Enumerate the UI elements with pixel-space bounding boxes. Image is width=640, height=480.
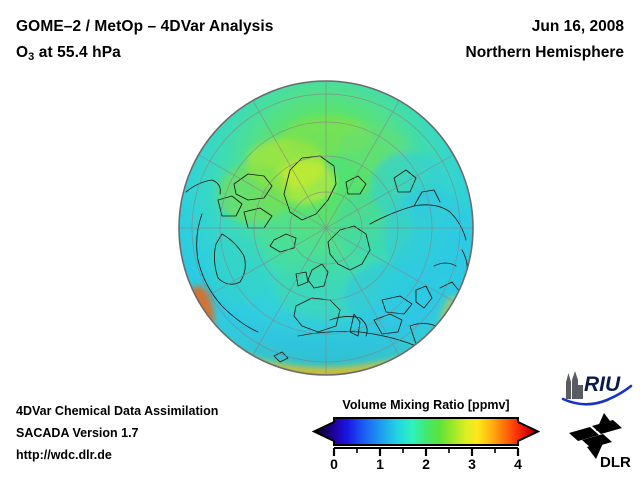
colorbar-tick-label: 1 — [376, 456, 384, 469]
title-line-1: GOME–2 / MetOp – 4DVar Analysis — [16, 14, 274, 40]
ozone-analysis-figure: GOME–2 / MetOp – 4DVar Analysis O3 at 55… — [0, 0, 640, 480]
title-line-2: O3 at 55.4 hPa — [16, 40, 274, 67]
riu-cathedral-icon — [566, 371, 583, 399]
colorbar-swatch — [314, 418, 538, 445]
colorbar-tick-label: 3 — [468, 456, 476, 469]
colorbar-scale: 01234 — [312, 417, 540, 469]
colorbar-ticks — [334, 448, 518, 456]
analysis-date: Jun 16, 2008 — [466, 14, 624, 40]
pressure-level-label: at 55.4 hPa — [34, 44, 121, 61]
colorbar-tick-label: 2 — [422, 456, 430, 469]
credit-line-2: SACADA Version 1.7 — [16, 422, 218, 444]
riu-logo: RIU — [559, 369, 635, 409]
colorbar-title: Volume Mixing Ratio [ppmv] — [312, 398, 540, 412]
dlr-logo: DLR — [566, 411, 634, 469]
species-subscript: 3 — [28, 51, 34, 63]
colorbar-tick-label: 0 — [330, 456, 338, 469]
colorbar: Volume Mixing Ratio [ppmv] 01234 — [312, 398, 540, 469]
species-symbol: O — [16, 44, 28, 61]
dlr-wordmark: DLR — [600, 454, 631, 469]
credit-url[interactable]: http://wdc.dlr.de — [16, 444, 218, 466]
figure-meta: Jun 16, 2008 Northern Hemisphere — [466, 14, 624, 66]
figure-title: GOME–2 / MetOp – 4DVar Analysis O3 at 55… — [16, 14, 274, 67]
ozone-field-raster — [178, 74, 478, 384]
credit-line-1: 4DVar Chemical Data Assimilation — [16, 400, 218, 422]
riu-wordmark: RIU — [584, 373, 621, 396]
colorbar-tick-labels: 01234 — [330, 456, 522, 469]
orthographic-projection — [178, 74, 478, 384]
figure-credits: 4DVar Chemical Data Assimilation SACADA … — [16, 400, 218, 466]
hemisphere-label: Northern Hemisphere — [466, 40, 624, 66]
dlr-arrow-icon — [569, 413, 622, 459]
colorbar-tick-label: 4 — [514, 456, 522, 469]
globe-map — [178, 74, 478, 384]
